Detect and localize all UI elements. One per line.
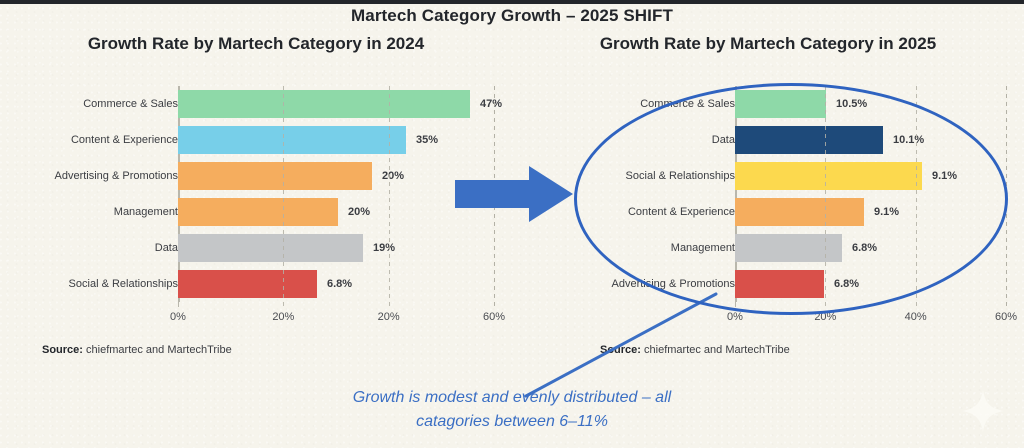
plot-area-2025: Commerce & Sales10.5%Data10.1%Social & R… (522, 86, 1014, 302)
category-label: Social & Relationships (69, 278, 178, 290)
category-label: Management (114, 206, 178, 218)
x-tick-label: 0% (170, 311, 186, 323)
source-label-2024: Source: (42, 344, 83, 356)
bar-value-label: 10.1% (893, 134, 924, 146)
x-tick-label: 0% (727, 311, 743, 323)
bar[interactable] (735, 126, 883, 154)
category-label: Advertising & Promotions (612, 278, 736, 290)
category-label: Content & Experience (71, 134, 178, 146)
bar-row: Social & Relationships6.8% (10, 266, 502, 302)
bar-track: 6.8% (735, 270, 1014, 298)
bar-track: 6.8% (178, 270, 502, 298)
bar[interactable] (735, 198, 864, 226)
x-tick (735, 302, 736, 307)
x-gridline (1006, 86, 1007, 307)
x-tick-label: 60% (483, 311, 505, 323)
bar[interactable] (178, 270, 317, 298)
bar[interactable] (178, 162, 372, 190)
chart-panel-2024: Growth Rate by Martech Category in 2024 … (10, 34, 502, 374)
x-gridline (389, 86, 390, 307)
bar-track: 9.1% (735, 198, 1014, 226)
category-label: Commerce & Sales (83, 98, 178, 110)
slide-canvas: Martech Category Growth – 2025 SHIFT Gro… (0, 0, 1024, 448)
bar[interactable] (178, 126, 406, 154)
category-label: Content & Experience (628, 206, 735, 218)
bar-row: Data19% (10, 230, 502, 266)
bar-track: 47% (178, 90, 502, 118)
bar-value-label: 6.8% (327, 278, 352, 290)
bar-value-label: 9.1% (874, 206, 899, 218)
source-note-2024: Source: chiefmartec and MartechTribe (42, 344, 232, 356)
bar-track: 10.1% (735, 126, 1014, 154)
x-tick-label: 20% (272, 311, 294, 323)
bar-row: Management20% (10, 194, 502, 230)
chart-title-2024: Growth Rate by Martech Category in 2024 (10, 34, 502, 54)
bar-value-label: 6.8% (834, 278, 859, 290)
bar[interactable] (178, 234, 363, 262)
x-tick-label: 40% (905, 311, 927, 323)
bar[interactable] (735, 162, 922, 190)
category-label: Advertising & Promotions (55, 170, 179, 182)
category-label: Management (671, 242, 735, 254)
bar-row: Management6.8% (522, 230, 1014, 266)
x-tick-label: 20% (378, 311, 400, 323)
bar-value-label: 9.1% (932, 170, 957, 182)
top-edge-strip (0, 0, 1024, 4)
bar[interactable] (178, 90, 470, 118)
page-title: Martech Category Growth – 2025 SHIFT (0, 6, 1024, 26)
x-gridline (825, 86, 826, 307)
bar-value-label: 10.5% (836, 98, 867, 110)
bar-row: Commerce & Sales10.5% (522, 86, 1014, 122)
bar-value-label: 20% (348, 206, 370, 218)
x-gridline (283, 86, 284, 307)
bar-value-label: 6.8% (852, 242, 877, 254)
bar-track: 6.8% (735, 234, 1014, 262)
bar[interactable] (735, 270, 824, 298)
right-arrow-icon (455, 166, 573, 222)
bar[interactable] (178, 198, 338, 226)
bar-value-label: 20% (382, 170, 404, 182)
bar-track: 20% (178, 198, 502, 226)
x-gridline (916, 86, 917, 307)
source-value-2024: chiefmartec and MartechTribe (83, 344, 232, 356)
bar-track: 10.5% (735, 90, 1014, 118)
sparkle-icon (960, 388, 1006, 434)
callout-leader-line (520, 290, 720, 400)
bar-row: Content & Experience35% (10, 122, 502, 158)
bar-row: Commerce & Sales47% (10, 86, 502, 122)
bar-value-label: 47% (480, 98, 502, 110)
bar[interactable] (735, 90, 826, 118)
bar-track: 19% (178, 234, 502, 262)
category-label: Commerce & Sales (640, 98, 735, 110)
x-tick-label: 60% (995, 311, 1017, 323)
category-label: Data (155, 242, 178, 254)
bar-value-label: 35% (416, 134, 438, 146)
bar-row: Data10.1% (522, 122, 1014, 158)
bar-track: 35% (178, 126, 502, 154)
bar-track: 9.1% (735, 162, 1014, 190)
category-label: Data (712, 134, 735, 146)
plot-area-2024: Commerce & Sales47%Content & Experience3… (10, 86, 502, 302)
x-tick (178, 302, 179, 307)
chart-title-2025: Growth Rate by Martech Category in 2025 (522, 34, 1014, 54)
bar-value-label: 19% (373, 242, 395, 254)
annotation-line-2: catagories between 6–11% (258, 410, 766, 434)
bar-track: 20% (178, 162, 502, 190)
bar-row: Advertising & Promotions20% (10, 158, 502, 194)
bar-row: Content & Experience9.1% (522, 194, 1014, 230)
category-label: Social & Relationships (626, 170, 735, 182)
bar-row: Social & Relationships9.1% (522, 158, 1014, 194)
x-tick-label: 20% (814, 311, 836, 323)
